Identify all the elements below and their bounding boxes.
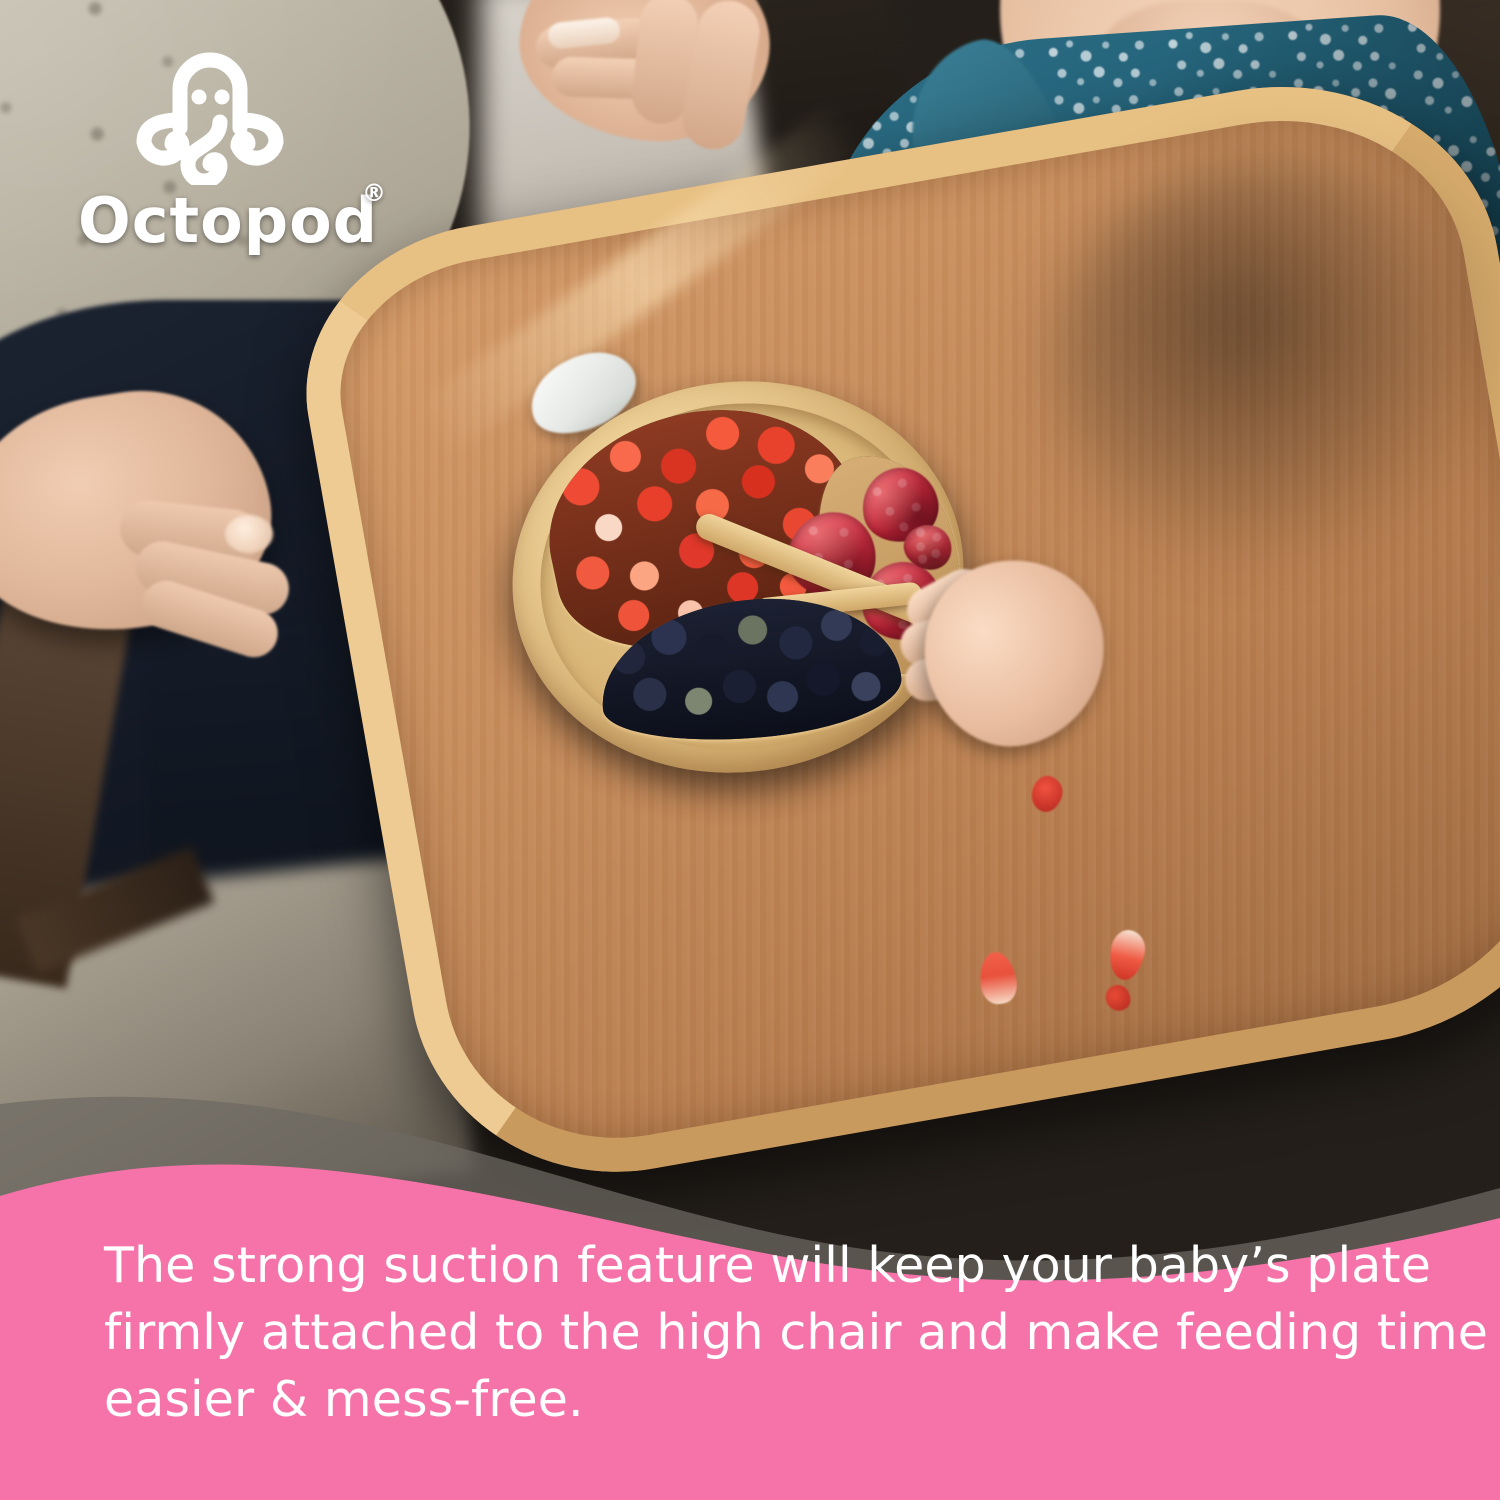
caption-text: The strong suction feature will keep you… — [104, 1232, 1434, 1433]
registered-trademark-icon: ® — [362, 179, 386, 207]
octopus-icon — [136, 50, 284, 185]
caption-line-3: easier & mess-free. — [104, 1366, 1434, 1433]
brand-wordmark: Octopod — [78, 190, 378, 252]
caption-line-2: firmly attached to the high chair and ma… — [104, 1299, 1434, 1366]
adult-thumbnail-highlight — [225, 515, 273, 553]
caption-line-1: The strong suction feature will keep you… — [104, 1232, 1434, 1299]
brand-logo: Octopod ® — [78, 50, 408, 260]
product-lifestyle-image: Octopod ® The strong suction feature wil… — [0, 0, 1500, 1500]
